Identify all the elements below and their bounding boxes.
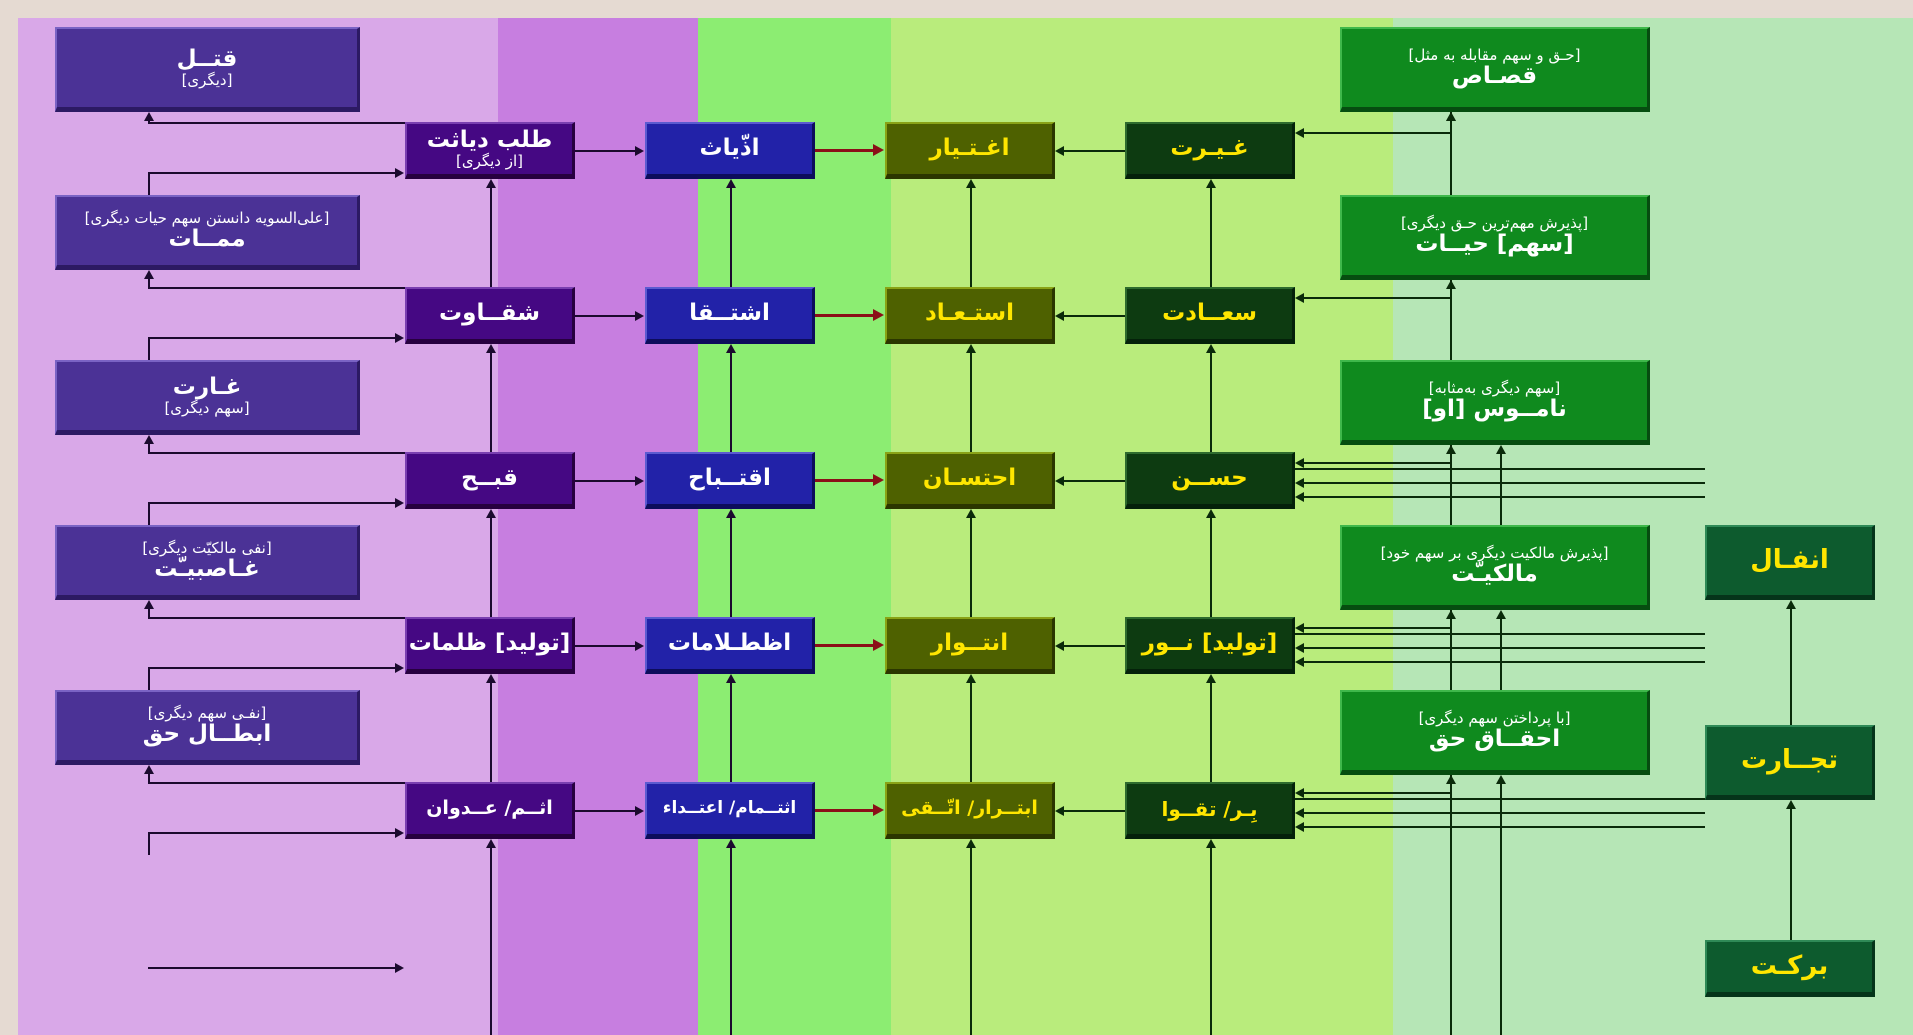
box-title: احتسـان	[923, 466, 1016, 492]
connector-line	[1304, 482, 1705, 484]
box-dark-green-2[interactable]: حســن	[1125, 452, 1295, 509]
connector-line	[815, 479, 874, 482]
arrow-head-left	[1295, 623, 1304, 633]
box-subtitle: [سهم دیگری]	[164, 400, 249, 417]
arrow-head-up	[1206, 179, 1216, 188]
arrow-head-up	[144, 270, 154, 279]
connector-line	[1790, 809, 1792, 940]
connector-line	[1304, 627, 1450, 629]
connector-line	[490, 188, 492, 287]
connector-line	[148, 667, 150, 690]
arrow-head-up	[486, 179, 496, 188]
box-olive-0[interactable]: اغـتـیار	[885, 122, 1055, 179]
box-olive-4[interactable]: ابتــرار/ اتّــقی	[885, 782, 1055, 839]
connector-line	[730, 518, 732, 617]
box-right-outcome-0[interactable]: [حـق و سهم مقابله به مثل]قصـاص	[1340, 27, 1650, 112]
connector-line	[148, 337, 396, 339]
connector-line	[970, 188, 972, 287]
connector-line	[1064, 150, 1125, 152]
box-subtitle: [نفی مالکیّت دیگری]	[142, 540, 271, 557]
connector-line	[148, 502, 150, 525]
box-title: غـیـرت	[1170, 136, 1248, 162]
connector-line	[1295, 633, 1705, 635]
connector-line	[1210, 848, 1212, 1035]
arrow-head-up	[1206, 674, 1216, 683]
connector-line	[970, 518, 972, 617]
arrow-head-up	[1496, 610, 1506, 619]
connector-line	[575, 645, 636, 647]
box-title: [تولید] ظلمات	[409, 631, 571, 657]
box-olive-1[interactable]: استـعـاد	[885, 287, 1055, 344]
connector-line	[815, 149, 874, 152]
arrow-head-right	[395, 168, 404, 178]
box-dark-green-3[interactable]: [تولید] نــور	[1125, 617, 1295, 674]
arrow-head-right	[395, 963, 404, 973]
box-left-outcome-4[interactable]: [نفـی سهم دیگری]ابطــال حق	[55, 690, 360, 765]
box-act-left-2[interactable]: قبــح	[405, 452, 575, 509]
arrow-head-left	[1295, 128, 1304, 138]
connector-line	[1304, 812, 1705, 814]
box-right-outcome-3[interactable]: [پذیرش مالکیت دیگری بر سهم خود]مالکیـّت	[1340, 525, 1650, 610]
box-title: اثتــمام/ اعتــداء	[663, 799, 796, 818]
connector-line	[1064, 810, 1125, 812]
arrow-head-up	[966, 179, 976, 188]
connector-line	[1210, 188, 1212, 287]
connector-line	[1450, 454, 1452, 525]
arrow-head-up	[1206, 344, 1216, 353]
connector-line	[148, 502, 396, 504]
arrow-head-left	[1295, 808, 1304, 818]
box-title: اشتــقا	[689, 301, 770, 327]
box-act-left-1[interactable]: شقــاوت	[405, 287, 575, 344]
connector-line	[1500, 619, 1502, 690]
connector-line	[148, 122, 405, 124]
arrow-head-up	[144, 435, 154, 444]
arrow-head-up	[966, 839, 976, 848]
connector-line	[148, 667, 396, 669]
box-title: بِـر/ تقــوا	[1161, 798, 1257, 820]
arrow-head-left	[1295, 822, 1304, 832]
connector-line	[1064, 480, 1125, 482]
arrow-head-up	[726, 344, 736, 353]
box-subtitle: [حـق و سهم مقابله به مثل]	[1409, 47, 1581, 64]
connector-line	[148, 609, 150, 617]
box-barakat[interactable]: برکـت	[1705, 940, 1875, 997]
connector-line	[970, 848, 972, 1035]
connector-line	[815, 644, 874, 647]
box-blue-0[interactable]: اذّیاث	[645, 122, 815, 179]
connector-line	[730, 848, 732, 1035]
box-title: برکـت	[1751, 952, 1828, 981]
arrow-head-up	[144, 112, 154, 121]
connector-line	[1064, 645, 1125, 647]
arrow-head-up	[1446, 280, 1456, 289]
arrow-head-left	[1295, 657, 1304, 667]
box-title: اظطـلامات	[668, 631, 791, 657]
box-right-outcome-2[interactable]: [سهم دیگری به‌مثابه]نامــوس [او]	[1340, 360, 1650, 445]
connector-line	[575, 480, 636, 482]
box-blue-4[interactable]: اثتــمام/ اعتــداء	[645, 782, 815, 839]
connector-line	[1304, 826, 1705, 828]
box-subtitle: [نفـی سهم دیگری]	[148, 705, 267, 722]
arrow-head-up	[144, 600, 154, 609]
connector-line	[1210, 683, 1212, 782]
connector-line	[1064, 315, 1125, 317]
box-subtitle: [سهم دیگری به‌مثابه]	[1429, 380, 1560, 397]
connector-line	[148, 172, 396, 174]
arrow-head-up	[486, 344, 496, 353]
connector-line	[1295, 798, 1705, 800]
arrow-head-left	[1055, 641, 1064, 651]
arrow-head-left	[1295, 643, 1304, 653]
connector-line	[1304, 661, 1705, 663]
arrow-head-right	[635, 806, 644, 816]
connector-line	[730, 683, 732, 782]
connector-line	[1450, 121, 1452, 195]
box-left-outcome-1[interactable]: [علی‌السویه دانستن سهم حیات دیگری]ممــات	[55, 195, 360, 270]
connector-line	[1304, 792, 1450, 794]
arrow-head-right	[395, 828, 404, 838]
arrow-head-left	[1295, 788, 1304, 798]
box-dark-green-4[interactable]: بِـر/ تقــوا	[1125, 782, 1295, 839]
connector-line	[575, 315, 636, 317]
arrow-head-left	[1295, 293, 1304, 303]
arrow-head-up	[486, 674, 496, 683]
box-left-outcome-0[interactable]: قتــل[دیگری]	[55, 27, 360, 112]
box-title: ابطــال حق	[143, 722, 272, 748]
arrow-head-right	[873, 144, 884, 156]
arrow-head-right	[635, 641, 644, 651]
box-act-left-3[interactable]: [تولید] ظلمات	[405, 617, 575, 674]
arrow-head-up	[1446, 775, 1456, 784]
box-title: انتــوار	[931, 631, 1008, 657]
box-act-left-0[interactable]: طلب دیاثت[از دیگری]	[405, 122, 575, 179]
arrow-head-left	[1295, 492, 1304, 502]
box-blue-2[interactable]: اقتــباح	[645, 452, 815, 509]
box-title: انفـال	[1750, 546, 1829, 575]
arrow-head-right	[873, 639, 884, 651]
connector-line	[970, 683, 972, 782]
box-left-outcome-3[interactable]: [نفی مالکیّت دیگری]غـاصبیـّت	[55, 525, 360, 600]
arrow-head-up	[1446, 112, 1456, 121]
connector-line	[1304, 462, 1450, 464]
connector-line	[575, 150, 636, 152]
arrow-head-left	[1055, 146, 1064, 156]
arrow-head-right	[873, 309, 884, 321]
connector-line	[815, 314, 874, 317]
box-title: [تولید] نــور	[1142, 631, 1277, 657]
box-title: نامــوس [او]	[1422, 397, 1567, 423]
connector-line	[1450, 784, 1452, 1035]
box-title: سعــادت	[1162, 301, 1257, 327]
box-title: اذّیاث	[699, 136, 759, 162]
box-title: اقتــباح	[688, 466, 771, 492]
box-title: حســن	[1171, 466, 1247, 492]
box-blue-3[interactable]: اظطـلامات	[645, 617, 815, 674]
connector-line	[148, 452, 405, 454]
box-title: طلب دیاثت	[427, 128, 552, 154]
connector-line	[970, 353, 972, 452]
box-title: استـعـاد	[925, 301, 1014, 327]
box-title: تجــارت	[1741, 746, 1838, 775]
arrow-head-up	[1446, 610, 1456, 619]
connector-line	[148, 287, 405, 289]
arrow-head-left	[1295, 458, 1304, 468]
arrow-head-right	[635, 476, 644, 486]
connector-line	[490, 353, 492, 452]
connector-line	[490, 683, 492, 782]
arrow-head-right	[395, 663, 404, 673]
arrow-head-right	[395, 333, 404, 343]
box-right-outcome-4[interactable]: [با پرداختن سهم دیگری]احقــاق حق	[1340, 690, 1650, 775]
box-subtitle: [با پرداختن سهم دیگری]	[1419, 710, 1571, 727]
arrow-head-up	[144, 765, 154, 774]
box-right-outcome-1[interactable]: [پذیرش مهم‌ترین حـق دیگری][سهم] حیــات	[1340, 195, 1650, 280]
arrow-head-up	[1206, 839, 1216, 848]
connector-line	[1304, 297, 1450, 299]
connector-line	[490, 518, 492, 617]
box-act-left-4[interactable]: اثــم/ عــدوان	[405, 782, 575, 839]
arrow-head-up	[726, 179, 736, 188]
connector-line	[148, 279, 150, 287]
arrow-head-up	[726, 509, 736, 518]
connector-line	[1500, 454, 1502, 525]
arrow-head-up	[1786, 600, 1796, 609]
connector-line	[148, 337, 150, 360]
connector-line	[1304, 496, 1705, 498]
connector-line	[575, 810, 636, 812]
box-title: غـارت	[173, 375, 242, 401]
arrow-head-up	[1786, 800, 1796, 809]
connector-line	[148, 782, 405, 784]
connector-line	[148, 832, 150, 855]
box-title: احقــاق حق	[1429, 727, 1560, 753]
arrow-head-right	[635, 311, 644, 321]
arrow-head-up	[1446, 445, 1456, 454]
box-dark-green-1[interactable]: سعــادت	[1125, 287, 1295, 344]
box-title: ممــات	[168, 227, 245, 253]
box-blue-1[interactable]: اشتــقا	[645, 287, 815, 344]
box-tejarat[interactable]: تجــارت	[1705, 725, 1875, 800]
arrow-head-right	[395, 498, 404, 508]
connector-line	[148, 121, 150, 122]
arrow-head-right	[873, 474, 884, 486]
connector-line	[730, 188, 732, 287]
box-left-outcome-2[interactable]: غـارت[سهم دیگری]	[55, 360, 360, 435]
box-title: قصـاص	[1452, 64, 1537, 90]
connector-line	[148, 172, 150, 195]
connector-line	[1500, 784, 1502, 1035]
box-anfal[interactable]: انفـال	[1705, 525, 1875, 600]
connector-line	[1790, 609, 1792, 725]
box-dark-green-0[interactable]: غـیـرت	[1125, 122, 1295, 179]
arrow-head-up	[486, 839, 496, 848]
box-subtitle: [دیگری]	[182, 72, 233, 89]
arrow-head-up	[726, 674, 736, 683]
arrow-head-right	[873, 804, 884, 816]
connector-line	[148, 774, 150, 782]
diagram-canvas: قتــل[دیگری]طلب دیاثت[از دیگری]اذّیاثاغـ…	[0, 0, 1913, 1035]
connector-line	[1304, 132, 1450, 134]
arrow-head-left	[1055, 311, 1064, 321]
connector-line	[1210, 518, 1212, 617]
box-olive-3[interactable]: انتــوار	[885, 617, 1055, 674]
arrow-head-right	[635, 146, 644, 156]
arrow-head-left	[1055, 806, 1064, 816]
connector-line	[148, 967, 396, 969]
connector-line	[490, 848, 492, 1035]
box-subtitle: [پذیرش مهم‌ترین حـق دیگری]	[1401, 215, 1588, 232]
box-title: اثــم/ عــدوان	[426, 798, 553, 819]
connector-line	[1210, 353, 1212, 452]
box-title: قبــح	[461, 466, 518, 492]
arrow-head-up	[966, 509, 976, 518]
box-olive-2[interactable]: احتسـان	[885, 452, 1055, 509]
arrow-head-up	[966, 344, 976, 353]
arrow-head-up	[726, 839, 736, 848]
connector-line	[815, 809, 874, 812]
connector-line	[1450, 289, 1452, 360]
box-title: اغـتـیار	[930, 136, 1010, 162]
box-subtitle: [از دیگری]	[456, 153, 523, 170]
box-title: غـاصبیـّت	[154, 557, 259, 583]
box-subtitle: [علی‌السویه دانستن سهم حیات دیگری]	[85, 210, 330, 227]
arrow-head-up	[486, 509, 496, 518]
arrow-head-up	[966, 674, 976, 683]
connector-line	[148, 444, 150, 452]
connector-line	[148, 617, 405, 619]
connector-line	[730, 353, 732, 452]
box-title: قتــل	[177, 47, 238, 73]
arrow-head-left	[1055, 476, 1064, 486]
connector-line	[148, 832, 396, 834]
box-title: شقــاوت	[439, 301, 540, 327]
box-title: ابتــرار/ اتّــقی	[901, 798, 1038, 819]
arrow-head-up	[1206, 509, 1216, 518]
connector-line	[1295, 468, 1705, 470]
arrow-head-left	[1295, 478, 1304, 488]
box-subtitle: [پذیرش مالکیت دیگری بر سهم خود]	[1381, 545, 1609, 562]
box-title: مالکیـّت	[1451, 562, 1538, 588]
connector-line	[1304, 647, 1705, 649]
box-title: [سهم] حیــات	[1415, 232, 1573, 258]
connector-line	[1450, 619, 1452, 690]
arrow-head-up	[1496, 445, 1506, 454]
arrow-head-up	[1496, 775, 1506, 784]
